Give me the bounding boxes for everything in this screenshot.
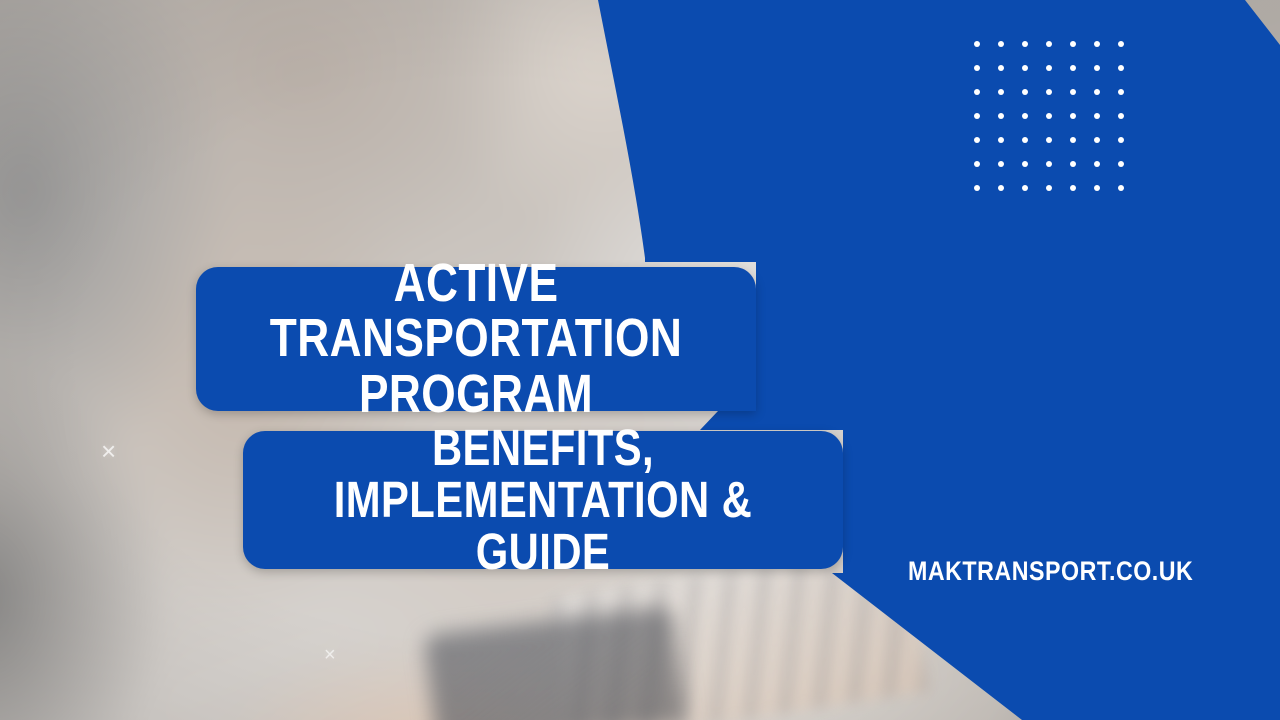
dot bbox=[1094, 185, 1100, 191]
dot bbox=[1070, 113, 1076, 119]
dot bbox=[1118, 137, 1124, 143]
dot bbox=[974, 161, 980, 167]
dot bbox=[1022, 185, 1028, 191]
dot bbox=[1022, 41, 1028, 47]
dot bbox=[1070, 41, 1076, 47]
dot bbox=[1118, 41, 1124, 47]
dot bbox=[1022, 161, 1028, 167]
dot bbox=[1094, 161, 1100, 167]
dot bbox=[998, 113, 1004, 119]
dot bbox=[974, 113, 980, 119]
dot bbox=[1094, 89, 1100, 95]
dot bbox=[1118, 65, 1124, 71]
dot bbox=[974, 89, 980, 95]
dot bbox=[1022, 137, 1028, 143]
dot bbox=[1118, 161, 1124, 167]
dot-grid bbox=[965, 32, 1133, 200]
subtitle-plate: BENEFITS, IMPLEMENTATION & GUIDE bbox=[243, 431, 843, 569]
dot bbox=[1046, 65, 1052, 71]
dot bbox=[1070, 65, 1076, 71]
dot bbox=[1022, 65, 1028, 71]
dot bbox=[1046, 113, 1052, 119]
dot bbox=[1046, 137, 1052, 143]
dot bbox=[1070, 89, 1076, 95]
dot bbox=[998, 65, 1004, 71]
dot bbox=[1070, 185, 1076, 191]
x-mark-icon: × bbox=[101, 438, 116, 464]
banner-canvas: × × ACTIVE TRANSPORTATION PROGRAM BENEFI… bbox=[0, 0, 1280, 720]
dot bbox=[998, 185, 1004, 191]
dot bbox=[1046, 89, 1052, 95]
dot bbox=[974, 41, 980, 47]
dot bbox=[1094, 41, 1100, 47]
dot bbox=[998, 161, 1004, 167]
dot bbox=[1070, 161, 1076, 167]
website-url[interactable]: MAKTRANSPORT.CO.UK bbox=[908, 556, 1193, 587]
x-mark-icon: × bbox=[324, 645, 336, 665]
dot bbox=[998, 89, 1004, 95]
dot bbox=[1094, 137, 1100, 143]
dot bbox=[1022, 113, 1028, 119]
dot bbox=[974, 137, 980, 143]
title-plate: ACTIVE TRANSPORTATION PROGRAM bbox=[196, 267, 756, 411]
dot bbox=[1094, 113, 1100, 119]
dot bbox=[1118, 185, 1124, 191]
dot bbox=[1118, 113, 1124, 119]
dot bbox=[998, 41, 1004, 47]
dot bbox=[1046, 185, 1052, 191]
dot bbox=[1070, 137, 1076, 143]
dot bbox=[1046, 161, 1052, 167]
dot bbox=[1118, 89, 1124, 95]
page-subtitle: BENEFITS, IMPLEMENTATION & GUIDE bbox=[297, 422, 789, 578]
page-title: ACTIVE TRANSPORTATION PROGRAM bbox=[246, 256, 705, 421]
dot bbox=[1022, 89, 1028, 95]
dot bbox=[974, 185, 980, 191]
dot bbox=[974, 65, 980, 71]
dot bbox=[1046, 41, 1052, 47]
dot bbox=[998, 137, 1004, 143]
dot bbox=[1094, 65, 1100, 71]
